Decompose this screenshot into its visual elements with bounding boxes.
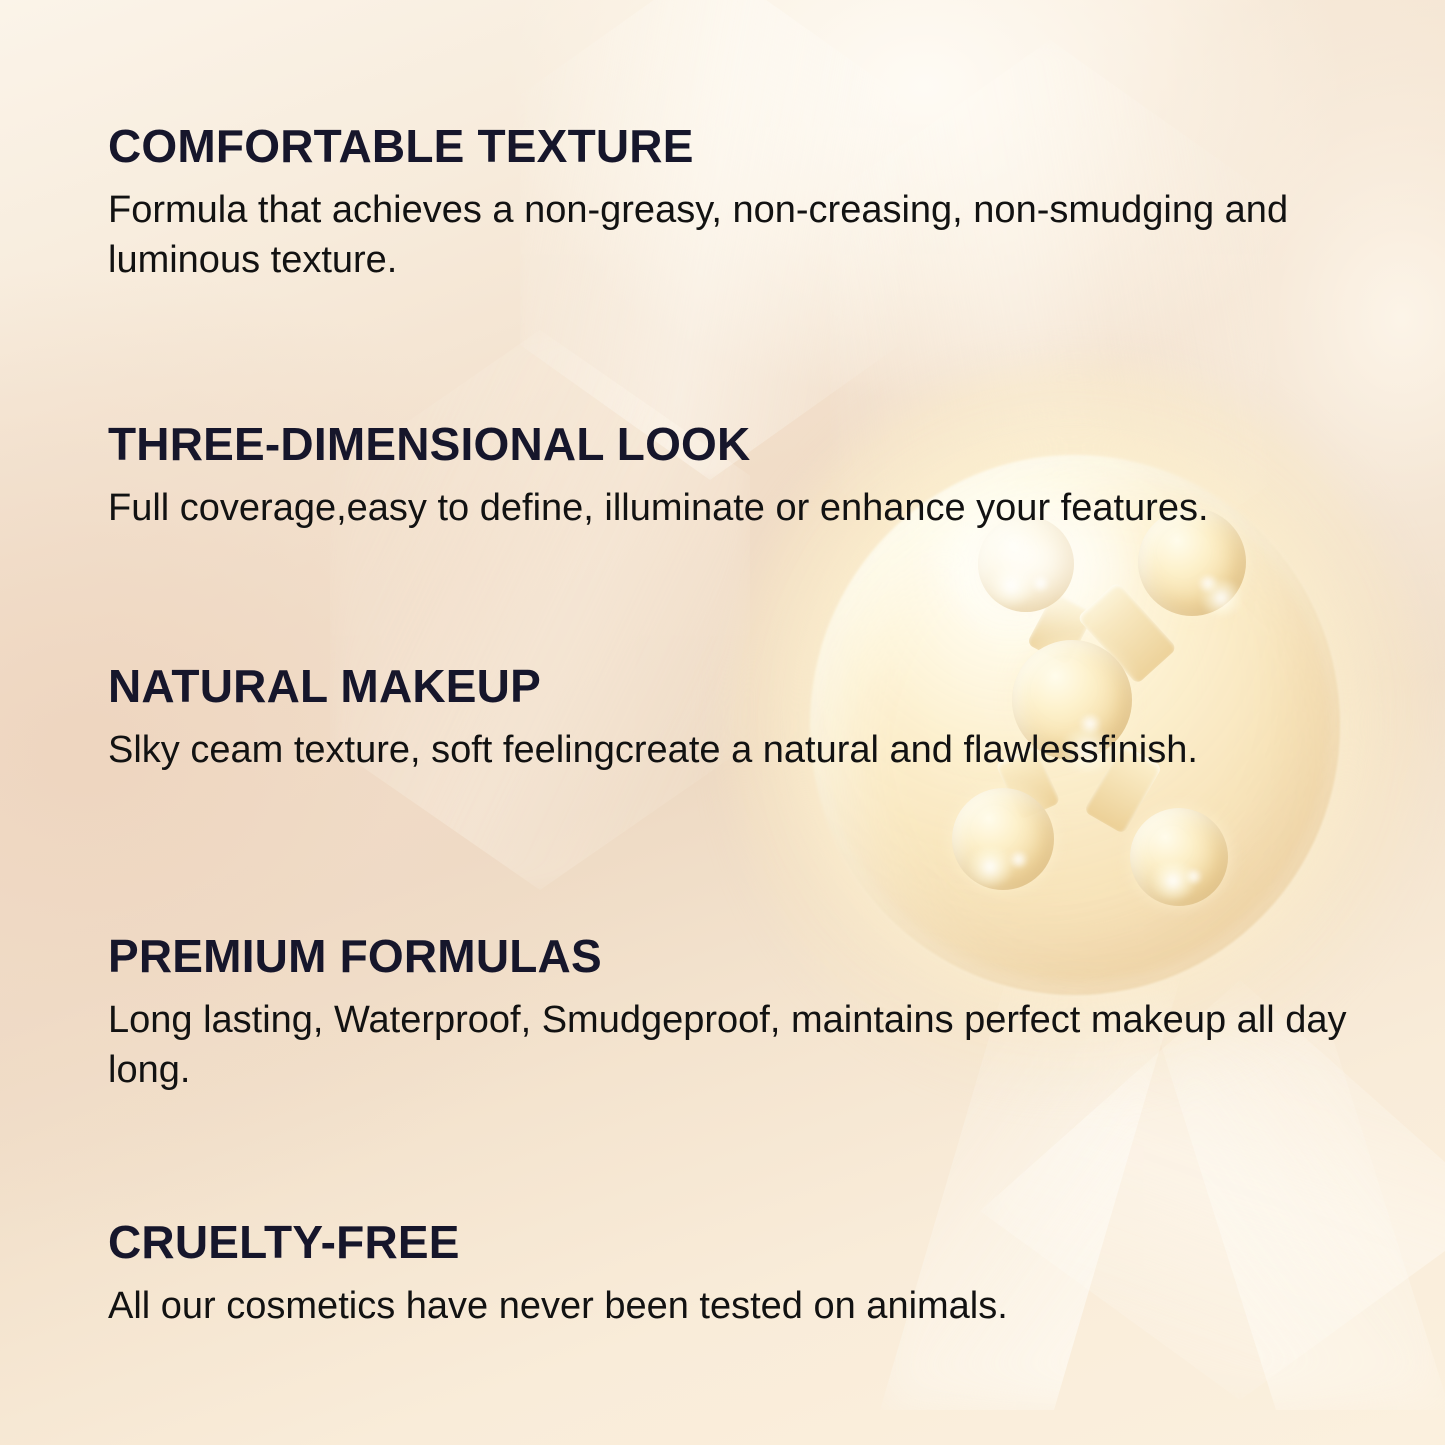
feature-item-cruelty-free: CRUELTY-FREE All our cosmetics have neve… [108, 1218, 1378, 1331]
feature-item-premium-formulas: PREMIUM FORMULAS Long lasting, Waterproo… [108, 932, 1378, 1096]
feature-description: Slky ceam texture, soft feelingcreate a … [108, 725, 1378, 776]
feature-title: PREMIUM FORMULAS [108, 932, 1378, 981]
feature-description: Full coverage,easy to define, illuminate… [108, 483, 1378, 534]
feature-title: NATURAL MAKEUP [108, 662, 1378, 711]
feature-list: COMFORTABLE TEXTURE Formula that achieve… [0, 0, 1445, 1445]
product-feature-infographic: COMFORTABLE TEXTURE Formula that achieve… [0, 0, 1445, 1445]
feature-title: THREE-DIMENSIONAL LOOK [108, 420, 1378, 469]
feature-item-natural-makeup: NATURAL MAKEUP Slky ceam texture, soft f… [108, 662, 1378, 775]
feature-description: All our cosmetics have never been tested… [108, 1281, 1378, 1332]
feature-description: Long lasting, Waterproof, Smudgeproof, m… [108, 995, 1378, 1096]
feature-title: COMFORTABLE TEXTURE [108, 122, 1378, 171]
feature-description: Formula that achieves a non-greasy, non-… [108, 185, 1378, 286]
feature-item-three-dimensional-look: THREE-DIMENSIONAL LOOK Full coverage,eas… [108, 420, 1378, 533]
feature-title: CRUELTY-FREE [108, 1218, 1378, 1267]
feature-item-comfortable-texture: COMFORTABLE TEXTURE Formula that achieve… [108, 122, 1378, 286]
